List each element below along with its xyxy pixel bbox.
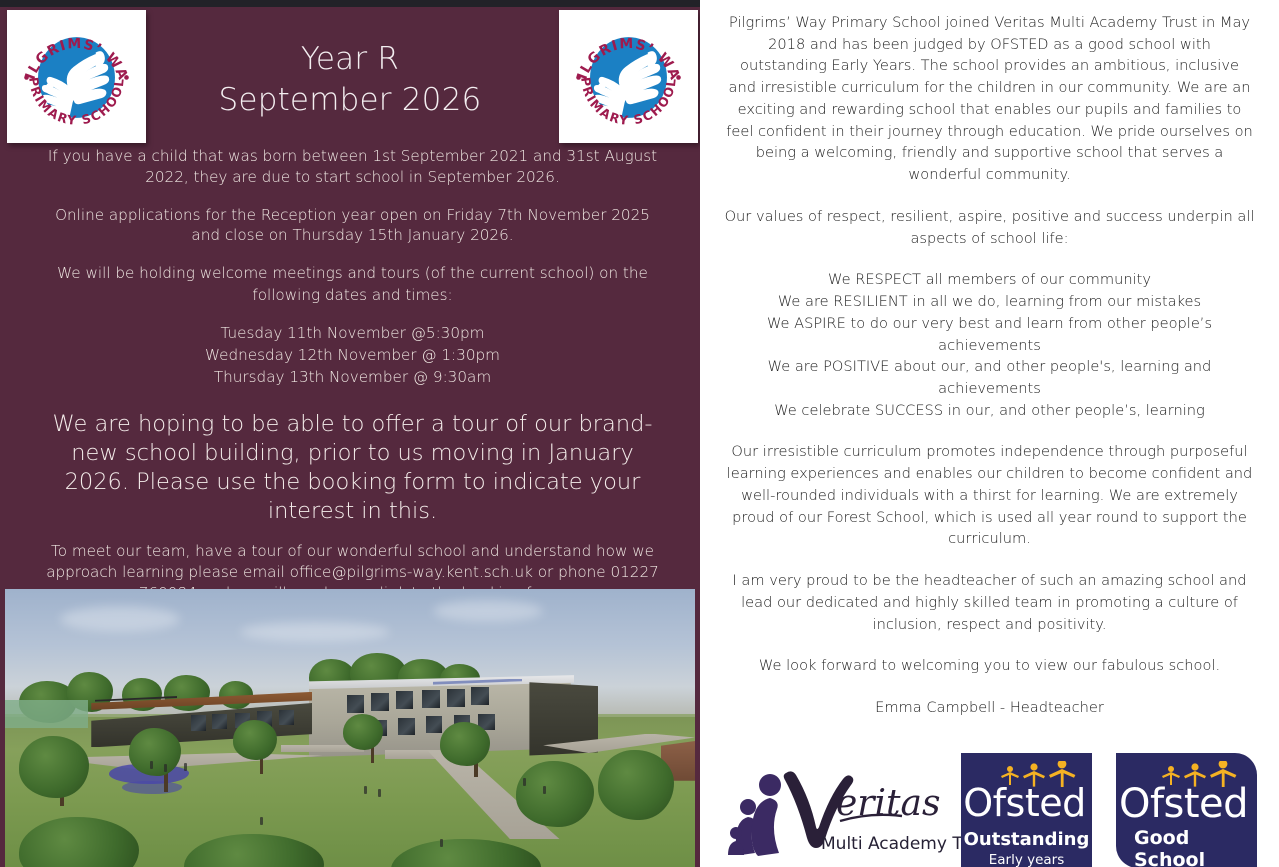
ofsted-good-grade: Good School: [1134, 827, 1205, 867]
school-logo-right: PILGRIMS’ WAY PRIMARY SCHOOL: [559, 10, 698, 143]
left-body-text: If you have a child that was born betwee…: [40, 146, 665, 627]
meeting-date-1: Tuesday 11th November @5:30pm: [221, 324, 485, 342]
ofsted-good-line2: School: [1134, 849, 1205, 867]
ofsted-detail: Early years provider: [961, 852, 1092, 867]
page-title: Year R September 2026: [150, 39, 550, 121]
ofsted-good-school-badge: Ofsted Good School: [1116, 753, 1257, 867]
partner-logos: eritas Multi Academy Trust: [700, 745, 1279, 867]
header: PILGRIMS’ WAY PRIMARY SCHOOL Year R Sept…: [0, 7, 700, 145]
title-line-month: September 2026: [150, 80, 550, 121]
value-success: We celebrate SUCCESS in our, and other p…: [774, 402, 1205, 419]
ofsted-wordmark: Ofsted: [1116, 781, 1257, 827]
value-aspire: We ASPIRE to do our very best and learn …: [767, 315, 1212, 354]
ofsted-good-line1: Good: [1134, 827, 1205, 849]
title-line-year: Year R: [150, 39, 550, 80]
para-values-intro: Our values of respect, resilient, aspire…: [724, 206, 1255, 249]
ofsted-outstanding-badge: Ofsted Outstanding Early years provider: [961, 753, 1092, 867]
value-respect: We RESPECT all members of our community: [828, 271, 1151, 288]
ofsted-wordmark: Ofsted: [961, 781, 1092, 825]
para-curriculum: Our irresistible curriculum promotes ind…: [724, 441, 1255, 550]
para-school-intro: Pilgrims’ Way Primary School joined Veri…: [724, 12, 1255, 186]
veritas-logo: eritas Multi Academy Trust: [728, 757, 973, 857]
value-positive: We are POSITIVE about our, and other peo…: [768, 358, 1212, 397]
headteacher-signature: Emma Campbell - Headteacher: [724, 697, 1255, 719]
right-body-text: Pilgrims’ Way Primary School joined Veri…: [724, 12, 1255, 719]
values-list: We RESPECT all members of our community …: [724, 269, 1255, 421]
para-new-building-highlight: We are hoping to be able to offer a tour…: [40, 410, 665, 525]
value-resilient: We are RESILIENT in all we do, learning …: [778, 293, 1201, 310]
left-panel: PILGRIMS’ WAY PRIMARY SCHOOL Year R Sept…: [0, 0, 700, 867]
right-panel: Pilgrims’ Way Primary School joined Veri…: [700, 0, 1279, 867]
para-headteacher: I am very proud to be the headteacher of…: [724, 570, 1255, 635]
school-logo-left: PILGRIMS’ WAY PRIMARY SCHOOL: [7, 10, 146, 143]
para-birth-dates: If you have a child that was born betwee…: [40, 146, 665, 188]
new-school-building-image: [5, 589, 695, 867]
ofsted-grade: Outstanding: [961, 829, 1092, 850]
para-meetings-intro: We will be holding welcome meetings and …: [40, 263, 665, 306]
flyer-page: PILGRIMS’ WAY PRIMARY SCHOOL Year R Sept…: [0, 0, 1279, 867]
veritas-subtitle: Multi Academy Trust: [821, 834, 973, 854]
meeting-date-3: Thursday 13th November @ 9:30am: [214, 368, 491, 386]
meeting-date-2: Wednesday 12th November @ 1:30pm: [205, 346, 500, 364]
meeting-dates-list: Tuesday 11th November @5:30pm Wednesday …: [40, 323, 665, 388]
para-welcome: We look forward to welcoming you to view…: [724, 655, 1255, 677]
para-applications: Online applications for the Reception ye…: [40, 205, 665, 247]
top-dark-strip: [0, 0, 700, 7]
